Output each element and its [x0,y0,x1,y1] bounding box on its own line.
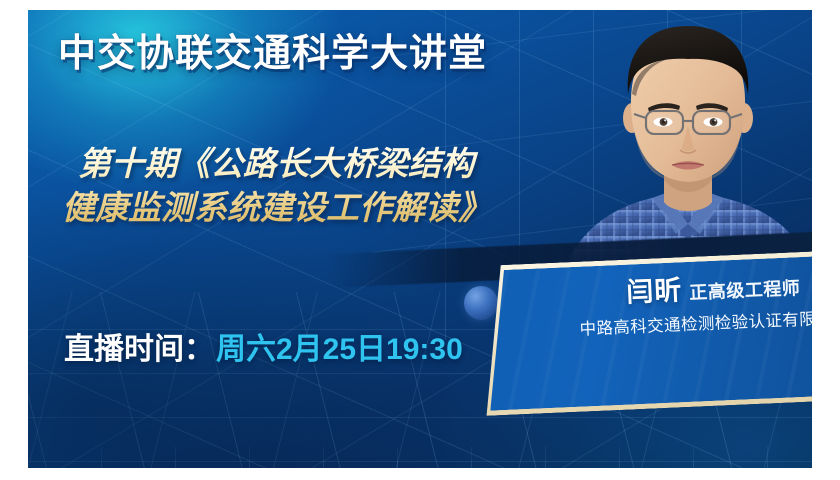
speaker-info-panel: 闫昕正高级工程师 中路高科交通检测检验认证有限公司 [480,249,812,416]
promo-banner: 中交协联交通科学大讲堂 第十期《公路长大桥梁结构 健康监测系统建设工作解读》 直… [0,0,840,480]
broadcast-time: 直播时间：周六2月25日19:30 [64,335,463,365]
speaker-professional-title: 正高级工程师 [689,278,801,303]
episode-subtitle: 第十期《公路长大桥梁结构 健康监测系统建设工作解读》 [62,142,602,230]
episode-subtitle-line-2: 健康监测系统建设工作解读》 [62,186,602,230]
broadcast-time-label: 直播时间： [64,333,214,366]
page-title: 中交协联交通科学大讲堂 [58,34,487,75]
poster-artboard: 中交协联交通科学大讲堂 第十期《公路长大桥梁结构 健康监测系统建设工作解读》 直… [28,10,812,468]
broadcast-time-value: 周六2月25日19:30 [216,333,463,366]
episode-subtitle-line-1: 第十期《公路长大桥梁结构 [62,142,602,186]
speaker-name: 闫昕 [626,275,683,307]
